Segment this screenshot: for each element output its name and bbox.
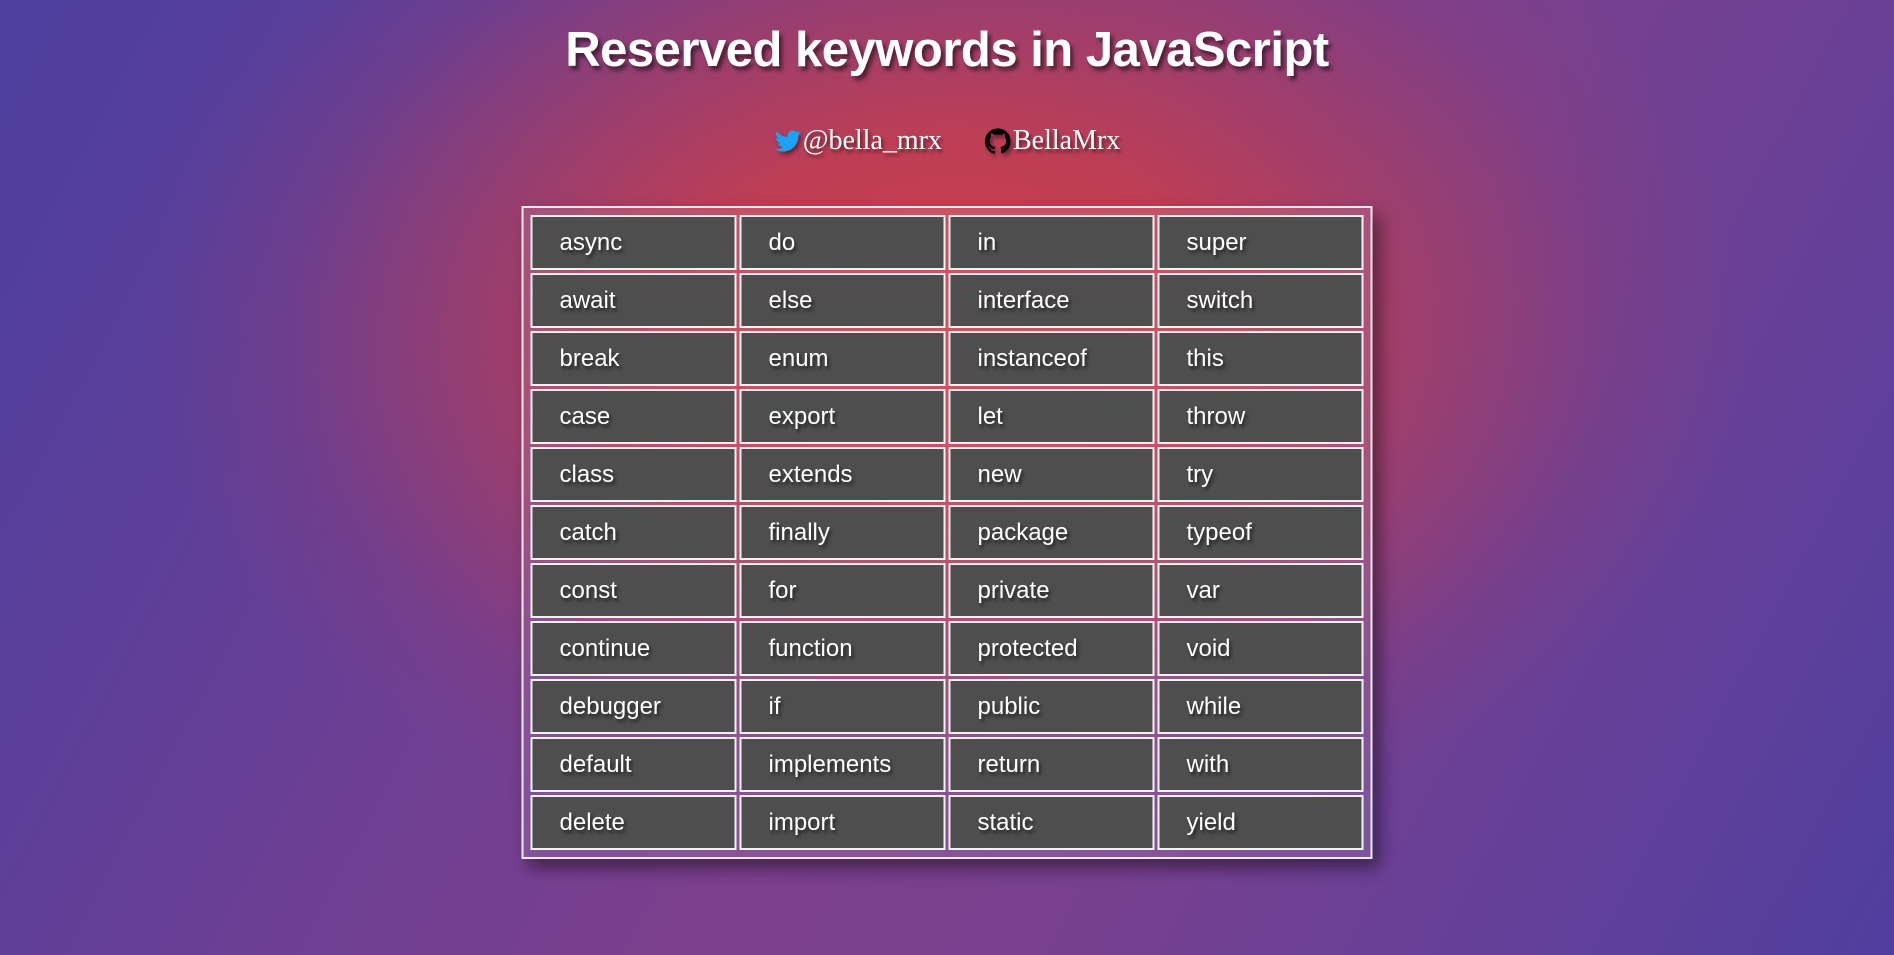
twitter-icon — [774, 127, 802, 155]
keyword-cell: public — [949, 679, 1155, 734]
table-row: deleteimportstaticyield — [531, 795, 1364, 850]
keyword-cell: interface — [949, 273, 1155, 328]
keyword-cell: catch — [531, 505, 737, 560]
keyword-cell: if — [740, 679, 946, 734]
keyword-cell: var — [1158, 563, 1364, 618]
table-row: defaultimplementsreturnwith — [531, 737, 1364, 792]
table-row: classextendsnewtry — [531, 447, 1364, 502]
table-row: catchfinallypackagetypeof — [531, 505, 1364, 560]
keyword-cell: with — [1158, 737, 1364, 792]
keyword-cell: enum — [740, 331, 946, 386]
keyword-cell: super — [1158, 215, 1364, 270]
page-title: Reserved keywords in JavaScript — [0, 22, 1894, 78]
keyword-cell: import — [740, 795, 946, 850]
keyword-table-container: asyncdoinsuperawaitelseinterfaceswitchbr… — [522, 206, 1373, 859]
keyword-cell: do — [740, 215, 946, 270]
keyword-table-body: asyncdoinsuperawaitelseinterfaceswitchbr… — [531, 215, 1364, 850]
keyword-cell: throw — [1158, 389, 1364, 444]
keyword-cell: finally — [740, 505, 946, 560]
keyword-cell: else — [740, 273, 946, 328]
keyword-cell: try — [1158, 447, 1364, 502]
social-link-github[interactable]: BellaMrx — [984, 125, 1120, 157]
keyword-cell: switch — [1158, 273, 1364, 328]
keyword-cell: implements — [740, 737, 946, 792]
keyword-cell: extends — [740, 447, 946, 502]
keyword-cell: for — [740, 563, 946, 618]
keyword-cell: return — [949, 737, 1155, 792]
github-icon — [984, 127, 1012, 155]
keyword-cell: protected — [949, 621, 1155, 676]
keyword-cell: package — [949, 505, 1155, 560]
keyword-cell: continue — [531, 621, 737, 676]
keyword-cell: new — [949, 447, 1155, 502]
keyword-cell: default — [531, 737, 737, 792]
keyword-cell: instanceof — [949, 331, 1155, 386]
table-row: debuggerifpublicwhile — [531, 679, 1364, 734]
keyword-cell: yield — [1158, 795, 1364, 850]
table-row: caseexportletthrow — [531, 389, 1364, 444]
keyword-cell: delete — [531, 795, 737, 850]
table-row: asyncdoinsuper — [531, 215, 1364, 270]
keyword-cell: async — [531, 215, 737, 270]
github-handle: BellaMrx — [1013, 125, 1120, 157]
table-row: awaitelseinterfaceswitch — [531, 273, 1364, 328]
keyword-cell: await — [531, 273, 737, 328]
keyword-cell: this — [1158, 331, 1364, 386]
keyword-cell: void — [1158, 621, 1364, 676]
keyword-cell: debugger — [531, 679, 737, 734]
table-row: continuefunctionprotectedvoid — [531, 621, 1364, 676]
keyword-cell: private — [949, 563, 1155, 618]
keyword-cell: typeof — [1158, 505, 1364, 560]
keyword-cell: break — [531, 331, 737, 386]
keyword-cell: let — [949, 389, 1155, 444]
social-link-twitter[interactable]: @bella_mrx — [774, 125, 942, 157]
keyword-cell: export — [740, 389, 946, 444]
page-root: Reserved keywords in JavaScript @bella_m… — [0, 0, 1894, 955]
table-row: breakenuminstanceofthis — [531, 331, 1364, 386]
keyword-cell: class — [531, 447, 737, 502]
twitter-handle: @bella_mrx — [803, 125, 942, 157]
keyword-cell: static — [949, 795, 1155, 850]
keyword-cell: case — [531, 389, 737, 444]
keyword-table: asyncdoinsuperawaitelseinterfaceswitchbr… — [528, 212, 1367, 853]
keyword-cell: function — [740, 621, 946, 676]
keyword-cell: while — [1158, 679, 1364, 734]
social-links: @bella_mrx BellaMrx — [0, 125, 1894, 157]
keyword-cell: const — [531, 563, 737, 618]
keyword-cell: in — [949, 215, 1155, 270]
table-row: constforprivatevar — [531, 563, 1364, 618]
